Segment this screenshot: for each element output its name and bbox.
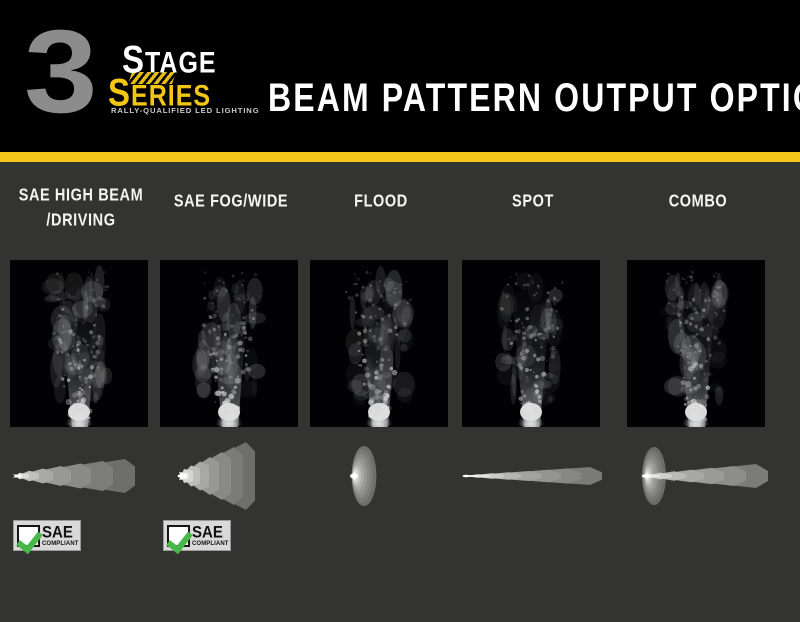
beam-photo bbox=[10, 260, 148, 427]
sae-badge-text: SAECOMPLIANT bbox=[192, 524, 229, 547]
beam-pattern-infographic: 3 STAGE SERIES RALLY-QUALIFIED LED LIGHT… bbox=[0, 0, 800, 622]
checkmark-icon bbox=[17, 525, 40, 547]
sae-badge-main: SAE bbox=[42, 524, 79, 541]
beam-column-flood: FLOOD bbox=[305, 162, 457, 602]
stage-series-logo: 3 STAGE SERIES RALLY-QUALIFIED LED LIGHT… bbox=[24, 24, 239, 132]
beam-column-combo: COMBO bbox=[622, 162, 774, 602]
checkmark-icon bbox=[167, 525, 190, 547]
accent-divider bbox=[0, 152, 800, 162]
header-bar: 3 STAGE SERIES RALLY-QUALIFIED LED LIGHT… bbox=[0, 0, 800, 157]
sae-badge-main: SAE bbox=[192, 524, 229, 541]
logo-stage-rest: TAGE bbox=[145, 46, 217, 79]
beam-photo bbox=[310, 260, 448, 427]
page-title: BEAM PATTERN OUTPUT OPTIONS bbox=[268, 77, 800, 117]
logo-tagline: RALLY-QUALIFIED LED LIGHTING bbox=[111, 106, 260, 115]
column-label: SAE FOG/WIDE bbox=[155, 190, 307, 215]
beam-photo bbox=[462, 260, 600, 427]
beam-pattern-diagram bbox=[5, 440, 157, 512]
beam-column-sae-fog-wide: SAE FOG/WIDE SAECOMPLIANT bbox=[155, 162, 307, 602]
column-label: SPOT bbox=[457, 190, 609, 215]
logo-wordmark: STAGE SERIES RALLY-QUALIFIED LED LIGHTIN… bbox=[108, 44, 258, 124]
beam-pattern-diagram bbox=[155, 440, 307, 512]
column-label-line2: /DRIVING bbox=[5, 209, 157, 234]
beam-photo bbox=[627, 260, 765, 427]
column-label: COMBO bbox=[622, 190, 774, 215]
beam-pattern-diagram bbox=[622, 440, 774, 512]
column-label-line1: FLOOD bbox=[305, 190, 457, 215]
column-label: SAE HIGH BEAM/DRIVING bbox=[5, 184, 157, 234]
beam-column-sae-high-beam: SAE HIGH BEAM/DRIVING SAECOMPLIANT bbox=[5, 162, 157, 602]
sae-compliant-badge: SAECOMPLIANT bbox=[13, 520, 81, 551]
column-label-line1: SAE FOG/WIDE bbox=[155, 190, 307, 215]
column-label-line1: COMBO bbox=[622, 190, 774, 215]
logo-stage-text: STAGE bbox=[122, 44, 217, 78]
sae-compliant-badge: SAECOMPLIANT bbox=[163, 520, 231, 551]
beam-column-spot: SPOT bbox=[457, 162, 609, 602]
beam-pattern-diagram bbox=[457, 440, 609, 512]
beam-photo bbox=[160, 260, 298, 427]
column-label-line1: SAE HIGH BEAM bbox=[5, 184, 157, 209]
sae-badge-text: SAECOMPLIANT bbox=[42, 524, 79, 547]
beam-pattern-diagram bbox=[305, 440, 457, 512]
column-label-line1: SPOT bbox=[457, 190, 609, 215]
column-label: FLOOD bbox=[305, 190, 457, 215]
